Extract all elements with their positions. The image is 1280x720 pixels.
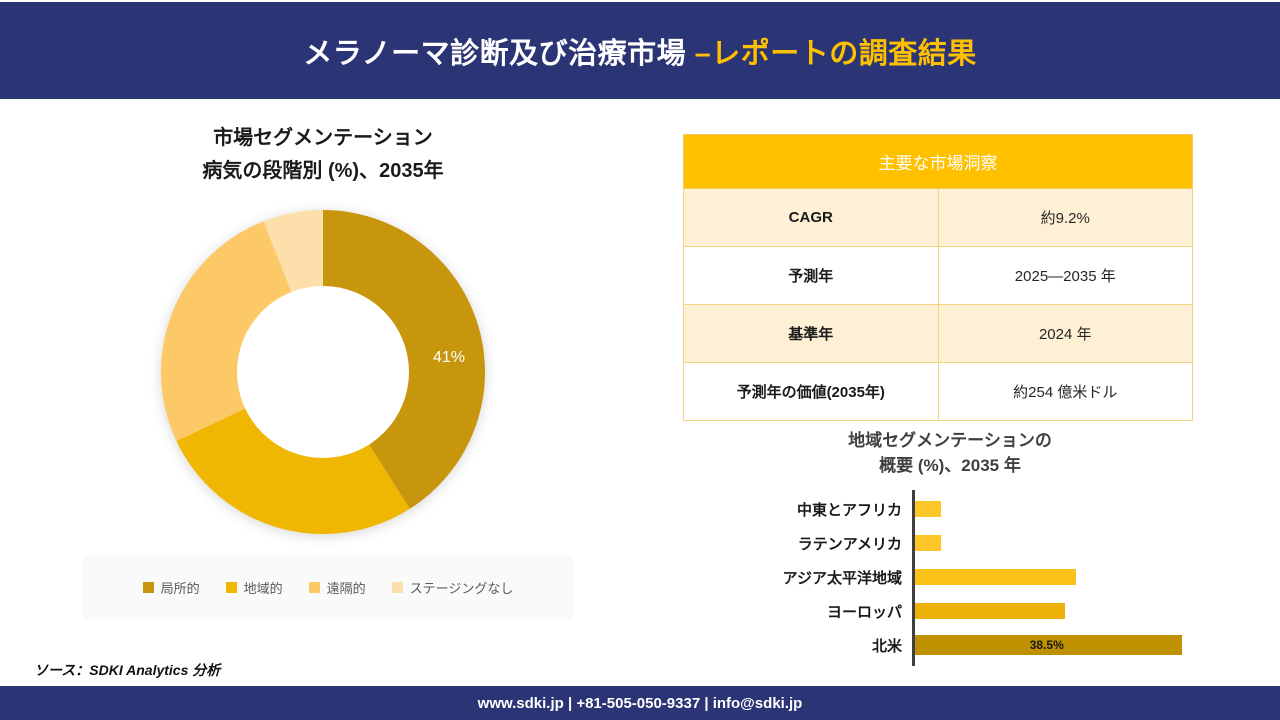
bar-value-label: 38.5%	[1030, 638, 1064, 652]
donut-title-line1: 市場セグメンテーション	[28, 122, 618, 155]
bar-track: 38.5%	[912, 628, 1210, 662]
bar-track	[912, 560, 1210, 594]
page-title-main: メラノーマ診断及び治療市場	[303, 38, 694, 70]
table-row: 基準年2024 年	[684, 305, 1193, 363]
bar-axis-line	[912, 490, 915, 666]
bar-chart-title: 地域セグメンテーションの 概要 (%)、2035 年	[690, 428, 1210, 478]
table-header-row: 主要な市場洞察	[684, 135, 1193, 189]
bar-track	[912, 526, 1210, 560]
donut-legend: 局所的 地域的 遠隔的 ステージングなし	[83, 555, 573, 620]
bar-track	[912, 492, 1210, 526]
bar-fill: 38.5%	[912, 635, 1182, 655]
page-title: メラノーマ診断及び治療市場 –レポートの調査結果	[303, 30, 977, 72]
table-body: CAGR約9.2%予測年2025—2035 年基準年2024 年予測年の価値(2…	[684, 189, 1193, 421]
page-title-accent: –レポートの調査結果	[695, 38, 977, 70]
table-cell-value: 2025—2035 年	[938, 247, 1193, 305]
bar-title-line2: 概要 (%)、2035 年	[690, 453, 1210, 478]
legend-item-1: 地域的	[226, 578, 283, 597]
bar-fill	[912, 603, 1065, 619]
table-header-title: 主要な市場洞察	[684, 135, 1193, 189]
bar-fill	[912, 501, 941, 517]
bar-fill	[912, 569, 1076, 585]
slide-header: メラノーマ診断及び治療市場 –レポートの調査結果	[0, 2, 1280, 99]
donut-chart: 41%	[153, 202, 493, 542]
bar-row: ヨーロッパ	[690, 594, 1210, 628]
donut-title-line2: 病気の段階別 (%)、2035年	[28, 155, 618, 188]
legend-swatch-icon-3	[392, 582, 403, 593]
source-note: ソース：SDKI Analytics 分析	[34, 660, 220, 680]
bar-fill	[912, 535, 941, 551]
donut-chart-panel: 市場セグメンテーション 病気の段階別 (%)、2035年 41% 局所的 地域的…	[28, 108, 618, 648]
legend-label-0: 局所的	[161, 578, 200, 597]
bar-category-label: アジア太平洋地域	[690, 567, 912, 588]
bar-category-label: 中東とアフリカ	[690, 499, 912, 520]
legend-item-0: 局所的	[143, 578, 200, 597]
table-cell-value: 2024 年	[938, 305, 1193, 363]
bar-title-line1: 地域セグメンテーションの	[690, 428, 1210, 453]
legend-label-2: 遠隔的	[327, 578, 366, 597]
slide-root: メラノーマ診断及び治療市場 –レポートの調査結果 市場セグメンテーション 病気の…	[0, 0, 1280, 720]
donut-data-label-localized: 41%	[433, 349, 465, 367]
table-cell-key: 予測年の価値(2035年)	[684, 363, 939, 421]
table-row: 予測年の価値(2035年)約254 億米ドル	[684, 363, 1193, 421]
key-insights-table: 主要な市場洞察 CAGR約9.2%予測年2025—2035 年基準年2024 年…	[683, 134, 1193, 421]
bar-rows: 中東とアフリカラテンアメリカアジア太平洋地域ヨーロッパ北米38.5%	[690, 492, 1210, 662]
bar-row: アジア太平洋地域	[690, 560, 1210, 594]
bar-category-label: ラテンアメリカ	[690, 533, 912, 554]
table-cell-value: 約9.2%	[938, 189, 1193, 247]
legend-label-1: 地域的	[244, 578, 283, 597]
table-cell-key: 予測年	[684, 247, 939, 305]
table-cell-value: 約254 億米ドル	[938, 363, 1193, 421]
key-insights-panel: 主要な市場洞察 CAGR約9.2%予測年2025—2035 年基準年2024 年…	[683, 134, 1193, 421]
regional-bar-chart-panel: 地域セグメンテーションの 概要 (%)、2035 年 中東とアフリカラテンアメリ…	[690, 428, 1210, 678]
table-row: 予測年2025—2035 年	[684, 247, 1193, 305]
legend-swatch-icon-2	[309, 582, 320, 593]
table-cell-key: CAGR	[684, 189, 939, 247]
legend-swatch-icon-1	[226, 582, 237, 593]
bar-track	[912, 594, 1210, 628]
footer-contact-text: www.sdki.jp | +81-505-050-9337 | info@sd…	[478, 695, 803, 712]
table-cell-key: 基準年	[684, 305, 939, 363]
legend-label-3: ステージングなし	[410, 578, 514, 597]
donut-hole	[237, 286, 409, 458]
legend-item-3: ステージングなし	[392, 578, 514, 597]
bar-category-label: ヨーロッパ	[690, 601, 912, 622]
donut-chart-title: 市場セグメンテーション 病気の段階別 (%)、2035年	[28, 122, 618, 188]
table-row: CAGR約9.2%	[684, 189, 1193, 247]
bar-plot-area: 中東とアフリカラテンアメリカアジア太平洋地域ヨーロッパ北米38.5%	[690, 492, 1210, 662]
bar-category-label: 北米	[690, 635, 912, 656]
donut-svg	[153, 202, 493, 542]
bar-row: ラテンアメリカ	[690, 526, 1210, 560]
slide-footer: www.sdki.jp | +81-505-050-9337 | info@sd…	[0, 686, 1280, 720]
legend-item-2: 遠隔的	[309, 578, 366, 597]
bar-row: 中東とアフリカ	[690, 492, 1210, 526]
legend-swatch-icon-0	[143, 582, 154, 593]
bar-row: 北米38.5%	[690, 628, 1210, 662]
